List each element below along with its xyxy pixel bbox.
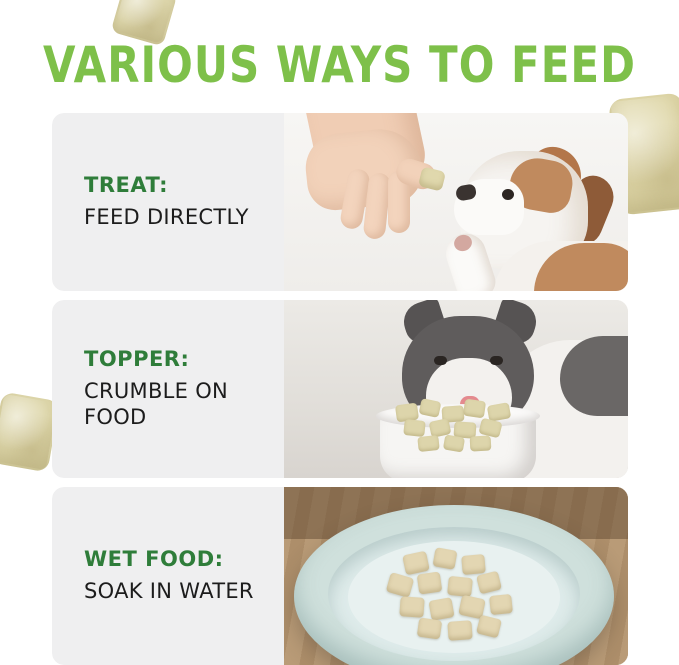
cat-eye-left [434, 356, 447, 365]
photo-treats-soaking-in-water [284, 487, 628, 665]
label-panel-topper: TOPPER: CRUMBLE ON FOOD [52, 300, 284, 478]
treat-piece [403, 419, 426, 437]
soaking-treat-piece [489, 594, 513, 615]
label-description-treat: FEED DIRECTLY [84, 205, 274, 231]
feeding-method-row-wet-food: WET FOOD: SOAK IN WATER [52, 487, 628, 665]
treat-nugget-left-icon [0, 392, 60, 473]
treat-piece [417, 435, 439, 452]
label-title-topper: TOPPER: [84, 347, 284, 371]
feeding-method-row-topper: TOPPER: CRUMBLE ON FOOD [52, 300, 628, 478]
soaking-treat-piece [399, 596, 424, 618]
soaking-treat-piece [433, 547, 458, 570]
label-panel-wet-food: WET FOOD: SOAK IN WATER [52, 487, 284, 665]
soaking-treat-piece [447, 576, 473, 597]
photo-hand-feeding-dog [284, 113, 628, 291]
label-description-wet-food: SOAK IN WATER [84, 579, 274, 605]
soaking-treat-piece [461, 554, 486, 575]
soaking-treat-piece [447, 620, 472, 641]
label-title-treat: TREAT: [84, 173, 284, 197]
soaking-treat-piece [417, 571, 443, 594]
photo-cat-eating [284, 300, 628, 478]
dog-eye [502, 189, 514, 200]
page-title: Various Ways to Feed [0, 36, 679, 94]
label-title-wet-food: WET FOOD: [84, 547, 284, 571]
treat-piece [463, 399, 486, 419]
label-panel-treat: TREAT: FEED DIRECTLY [52, 113, 284, 291]
feeding-method-row-treat: TREAT: FEED DIRECTLY [52, 113, 628, 291]
treat-piece [470, 435, 492, 451]
soaking-treat-piece [428, 597, 454, 621]
soaking-treat-piece [417, 617, 442, 639]
treat-piece [443, 434, 465, 452]
cat-eye-right [490, 356, 503, 365]
label-description-topper: CRUMBLE ON FOOD [84, 379, 274, 430]
